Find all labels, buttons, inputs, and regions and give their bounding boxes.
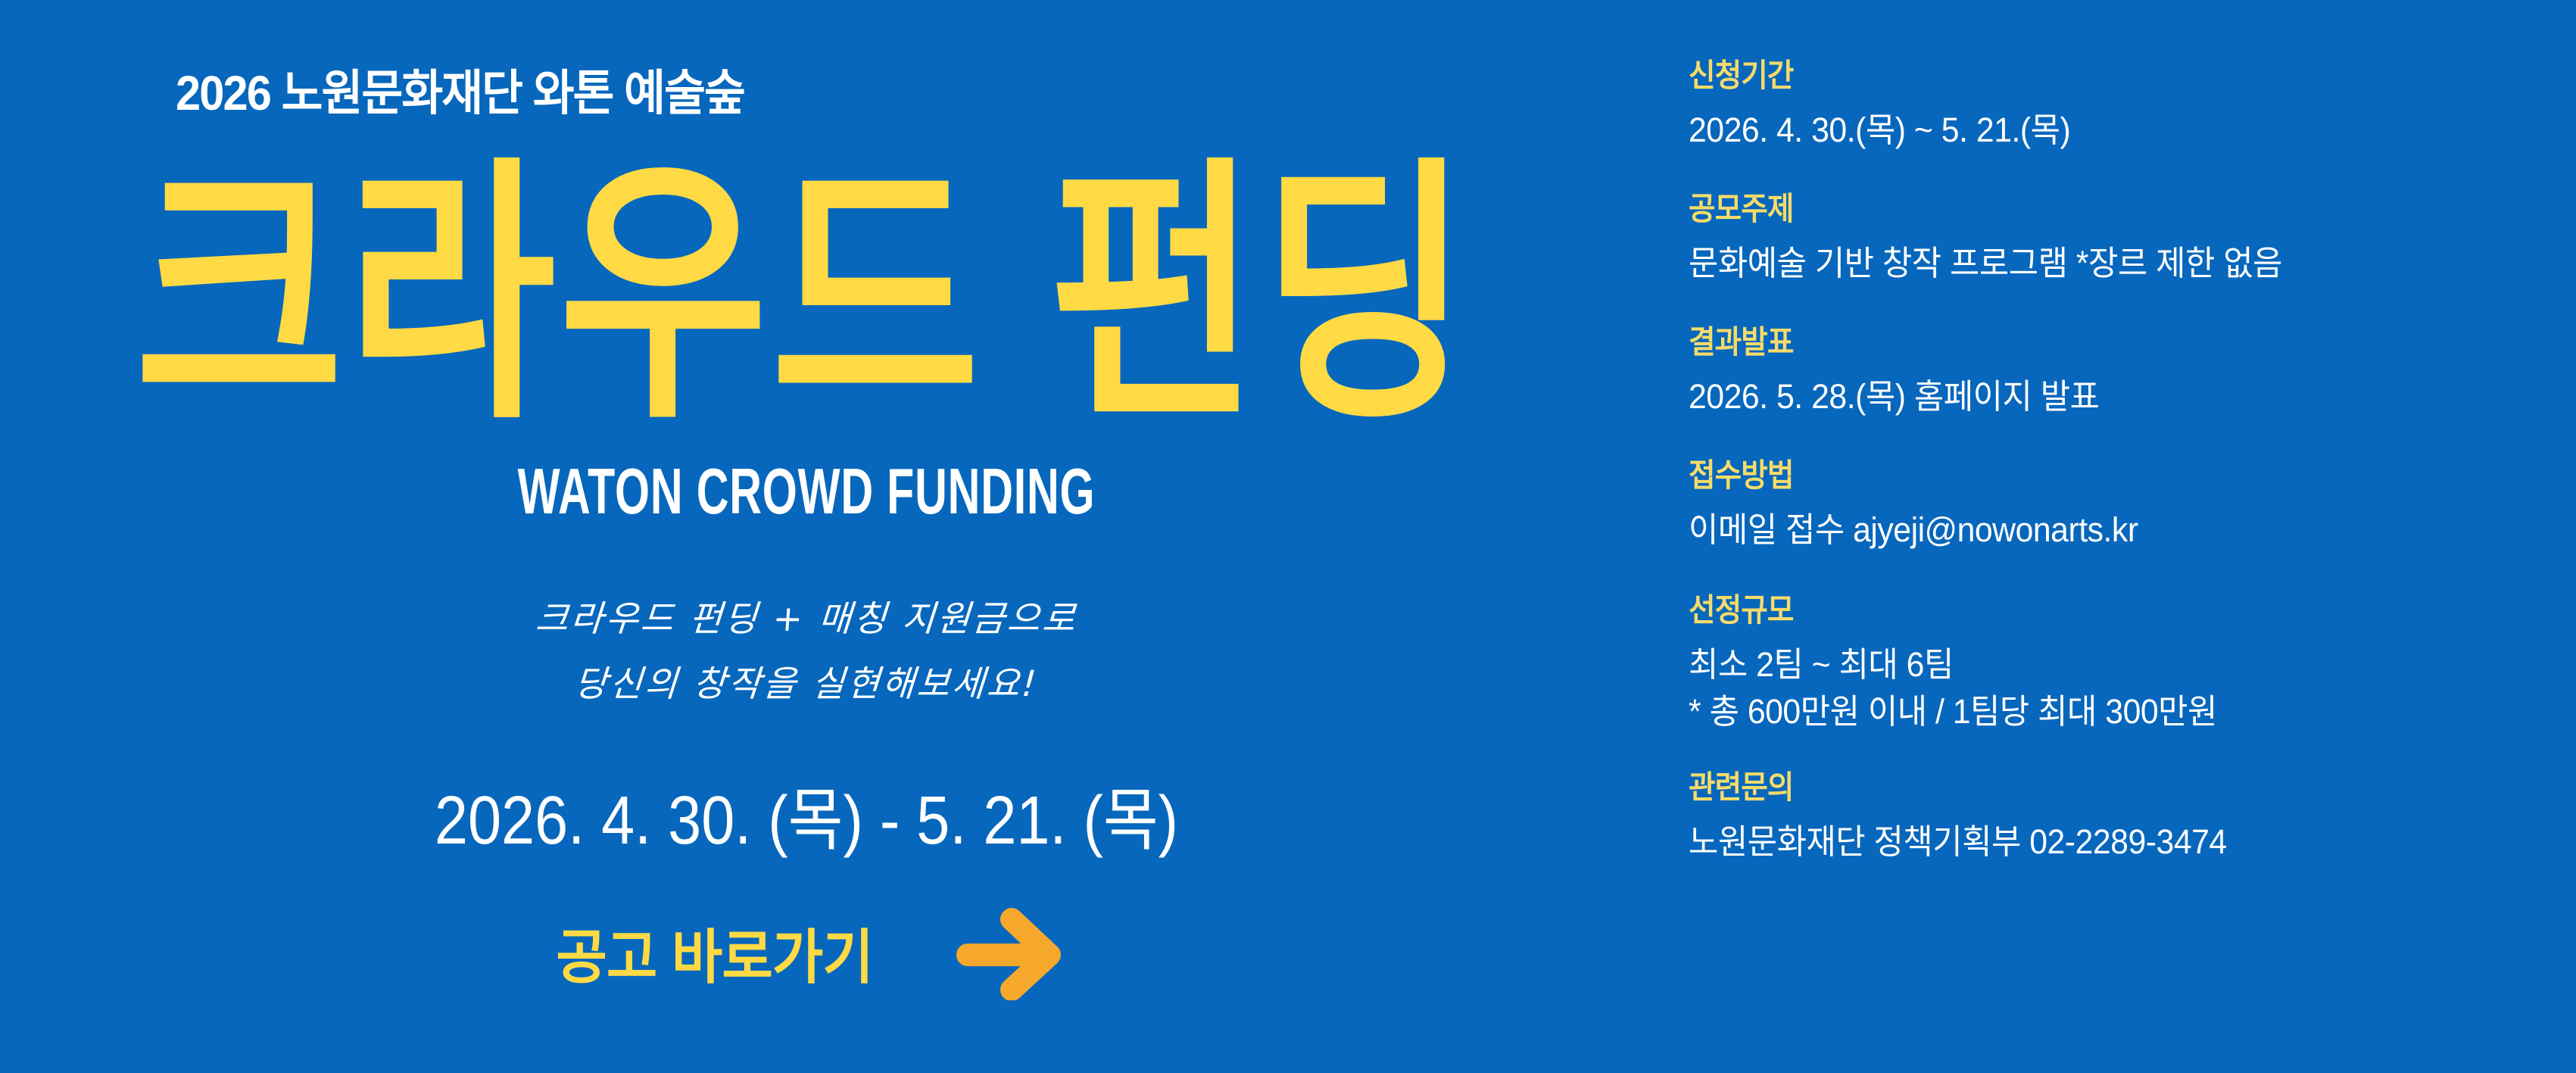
info-block-selection-scale: 선정규모 최소 2팀 ~ 최대 6팀 * 총 600만원 이내 / 1팀당 최대… <box>1689 585 2567 735</box>
info-block-contact: 관련문의 노원문화재단 정책기획부 02-2289-3474 <box>1689 762 2567 866</box>
poster-hero-title: 크라우드 펀딩 <box>135 159 1589 431</box>
info-value-line: 최소 2팀 ~ 최대 6팀 <box>1689 641 2523 688</box>
poster-tagline: 크라우드 펀딩 + 매칭 지원금으로 당신의 창작을 실현해보세요! <box>0 587 1613 717</box>
poster-date-range: 2026. 4. 30. (목) - 5. 21. (목) <box>97 765 1516 863</box>
info-value-line: 문화예술 기반 창작 프로그램 *장르 제한 없음 <box>1689 240 2523 287</box>
tagline-line-2: 당신의 창작을 실현해보세요! <box>0 652 1615 717</box>
poster-hero-subtitle: WATON CROWD FUNDING <box>161 454 1452 529</box>
info-value-line: 2026. 5. 28.(목) 홈페이지 발표 <box>1689 373 2523 420</box>
promotional-poster: 2026 노원문화재단 와톤 예술숲 크라우드 펀딩 WATON CROWD F… <box>0 0 2576 1073</box>
info-value-contact: 노원문화재단 정책기획부 02-2289-3474 <box>1689 819 2523 866</box>
info-block-application-period: 신청기간 2026. 4. 30.(목) ~ 5. 21.(목) <box>1689 50 2567 154</box>
arrow-right-icon[interactable] <box>953 905 1067 1000</box>
info-block-results-announcement: 결과발표 2026. 5. 28.(목) 홈페이지 발표 <box>1689 317 2567 420</box>
info-value-line: 2026. 4. 30.(목) ~ 5. 21.(목) <box>1689 107 2523 154</box>
tagline-line-1: 크라우드 펀딩 + 매칭 지원금으로 <box>0 587 1615 652</box>
cta-link[interactable]: 공고 바로가기 <box>0 905 1613 1000</box>
info-label: 결과발표 <box>1689 317 2496 363</box>
info-block-theme: 공모주제 문화예술 기반 창작 프로그램 *장르 제한 없음 <box>1689 183 2567 287</box>
poster-info-panel: 신청기간 2026. 4. 30.(목) ~ 5. 21.(목) 공모주제 문화… <box>1689 50 2521 1057</box>
info-label: 신청기간 <box>1689 50 2496 96</box>
poster-left-panel: 2026 노원문화재단 와톤 예술숲 크라우드 펀딩 WATON CROWD F… <box>0 0 1613 1073</box>
info-block-submission-method: 접수방법 이메일 접수 ajyeji@nowonarts.kr <box>1689 450 2567 554</box>
poster-eyebrow: 2026 노원문화재단 와톤 예술숲 <box>176 55 744 124</box>
info-label: 선정규모 <box>1689 585 2496 631</box>
info-value-email[interactable]: 이메일 접수 ajyeji@nowonarts.kr <box>1689 507 2523 554</box>
info-label: 관련문의 <box>1689 762 2496 808</box>
info-value-note: * 총 600만원 이내 / 1팀당 최대 300만원 <box>1689 688 2523 735</box>
info-label: 공모주제 <box>1689 183 2496 229</box>
cta-label[interactable]: 공고 바로가기 <box>557 910 874 995</box>
info-label: 접수방법 <box>1689 450 2496 496</box>
